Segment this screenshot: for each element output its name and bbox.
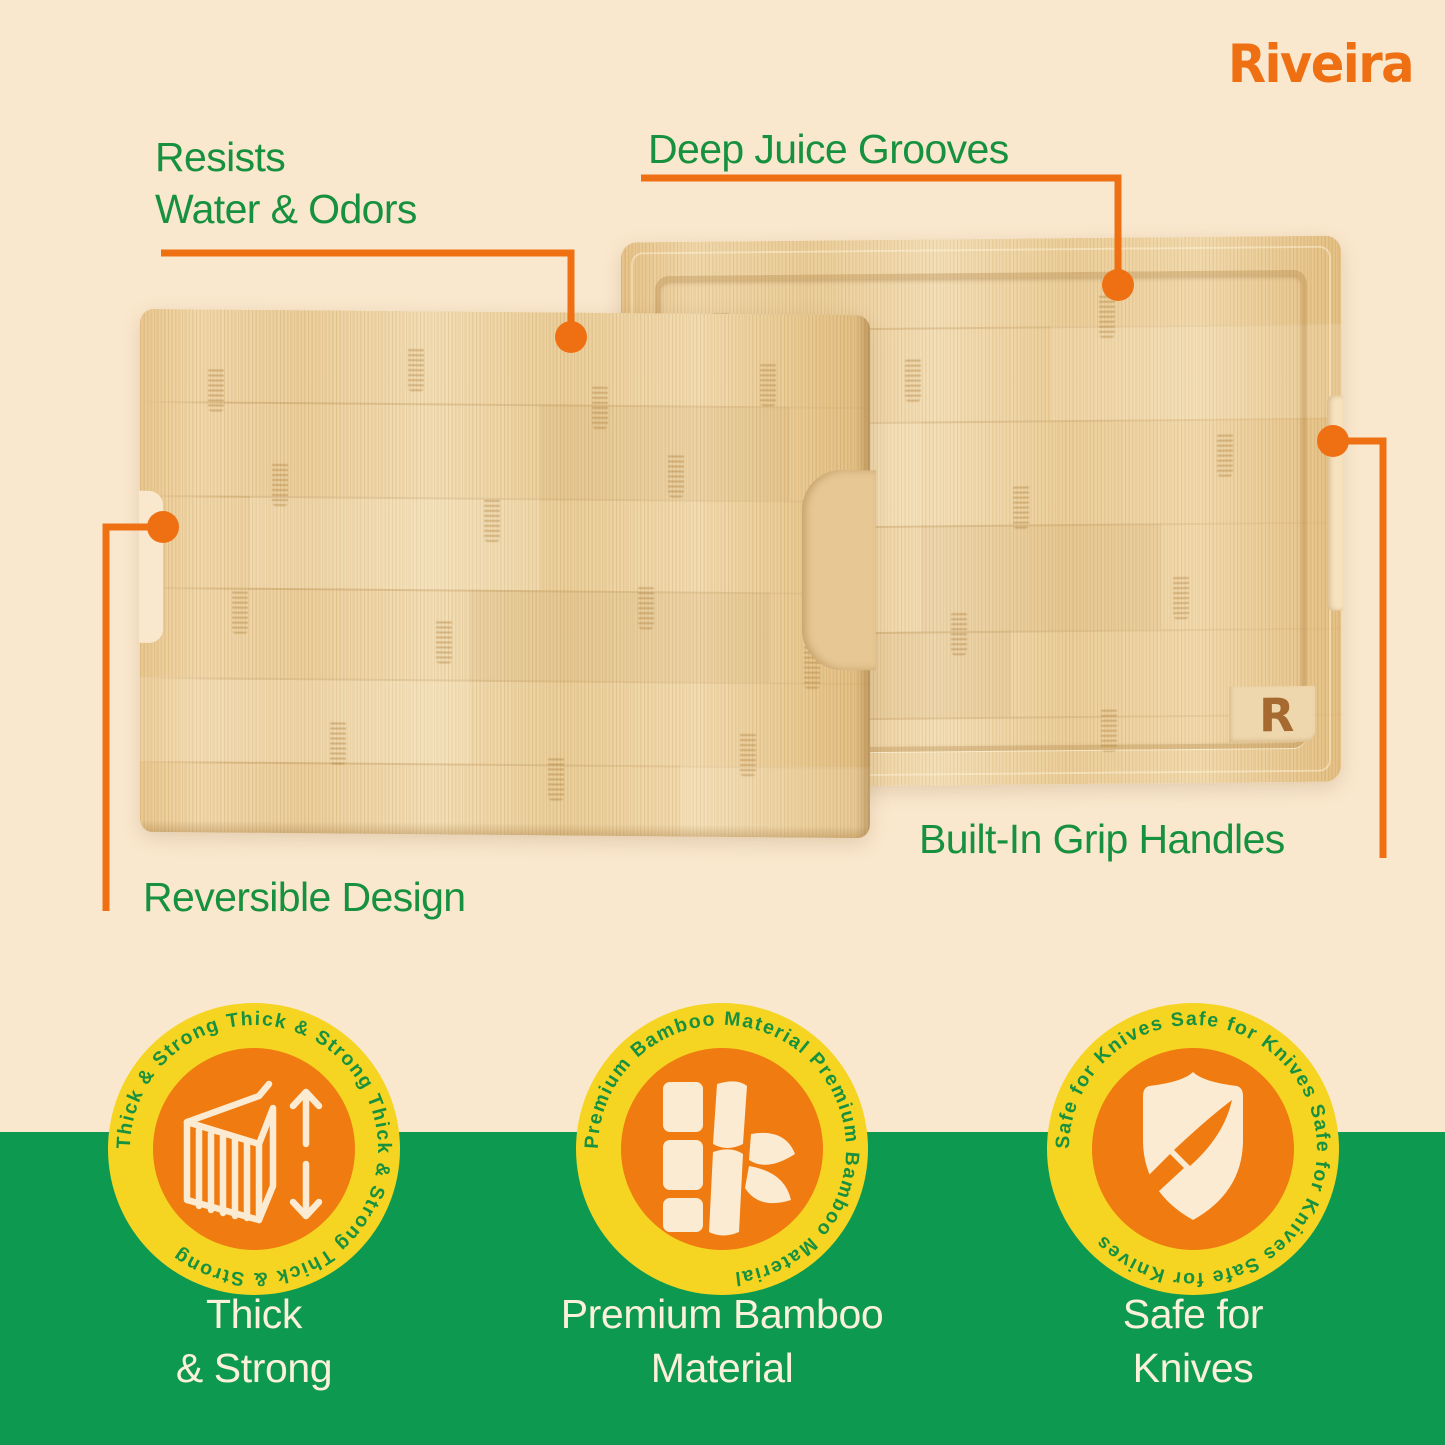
bamboo-stalks-icon [621,1048,823,1250]
feature-label-reversible-design: Reversible Design [143,872,466,924]
feature-label-built-in-grip-handles: Built-In Grip Handles [919,814,1285,866]
badge-premium-bamboo-material: Premium Bamboo Material Premium Bamboo M… [576,1003,868,1295]
bamboo-plank-seams [140,309,870,838]
badge-thick-strong: Thick & Strong Thick & Strong Thick & St… [108,1003,400,1295]
grip-handle-side-cutout [1327,396,1343,611]
feature-label-resists-water-odors: Resists Water & Odors [155,132,417,235]
built-in-grip-handle-cut [802,470,876,671]
badge-caption-thick-strong: Thick & Strong [84,1287,424,1395]
grip-handle-left-notch [139,491,163,643]
badge-caption-premium-bamboo: Premium Bamboo Material [531,1287,913,1395]
board-thickness-arrows-icon [153,1048,355,1250]
shield-knife-icon [1092,1048,1294,1250]
cutting-board-front-flat-side [140,309,870,838]
badge-safe-for-knives: Safe for Knives Safe for Knives Safe for… [1047,1003,1339,1295]
feature-label-deep-juice-grooves: Deep Juice Grooves [648,124,1009,176]
brand-burn-mark-r: R [1259,694,1297,736]
infographic-canvas: Riveira [0,0,1445,1445]
badge-caption-safe-for-knives: Safe for Knives [1005,1287,1381,1395]
